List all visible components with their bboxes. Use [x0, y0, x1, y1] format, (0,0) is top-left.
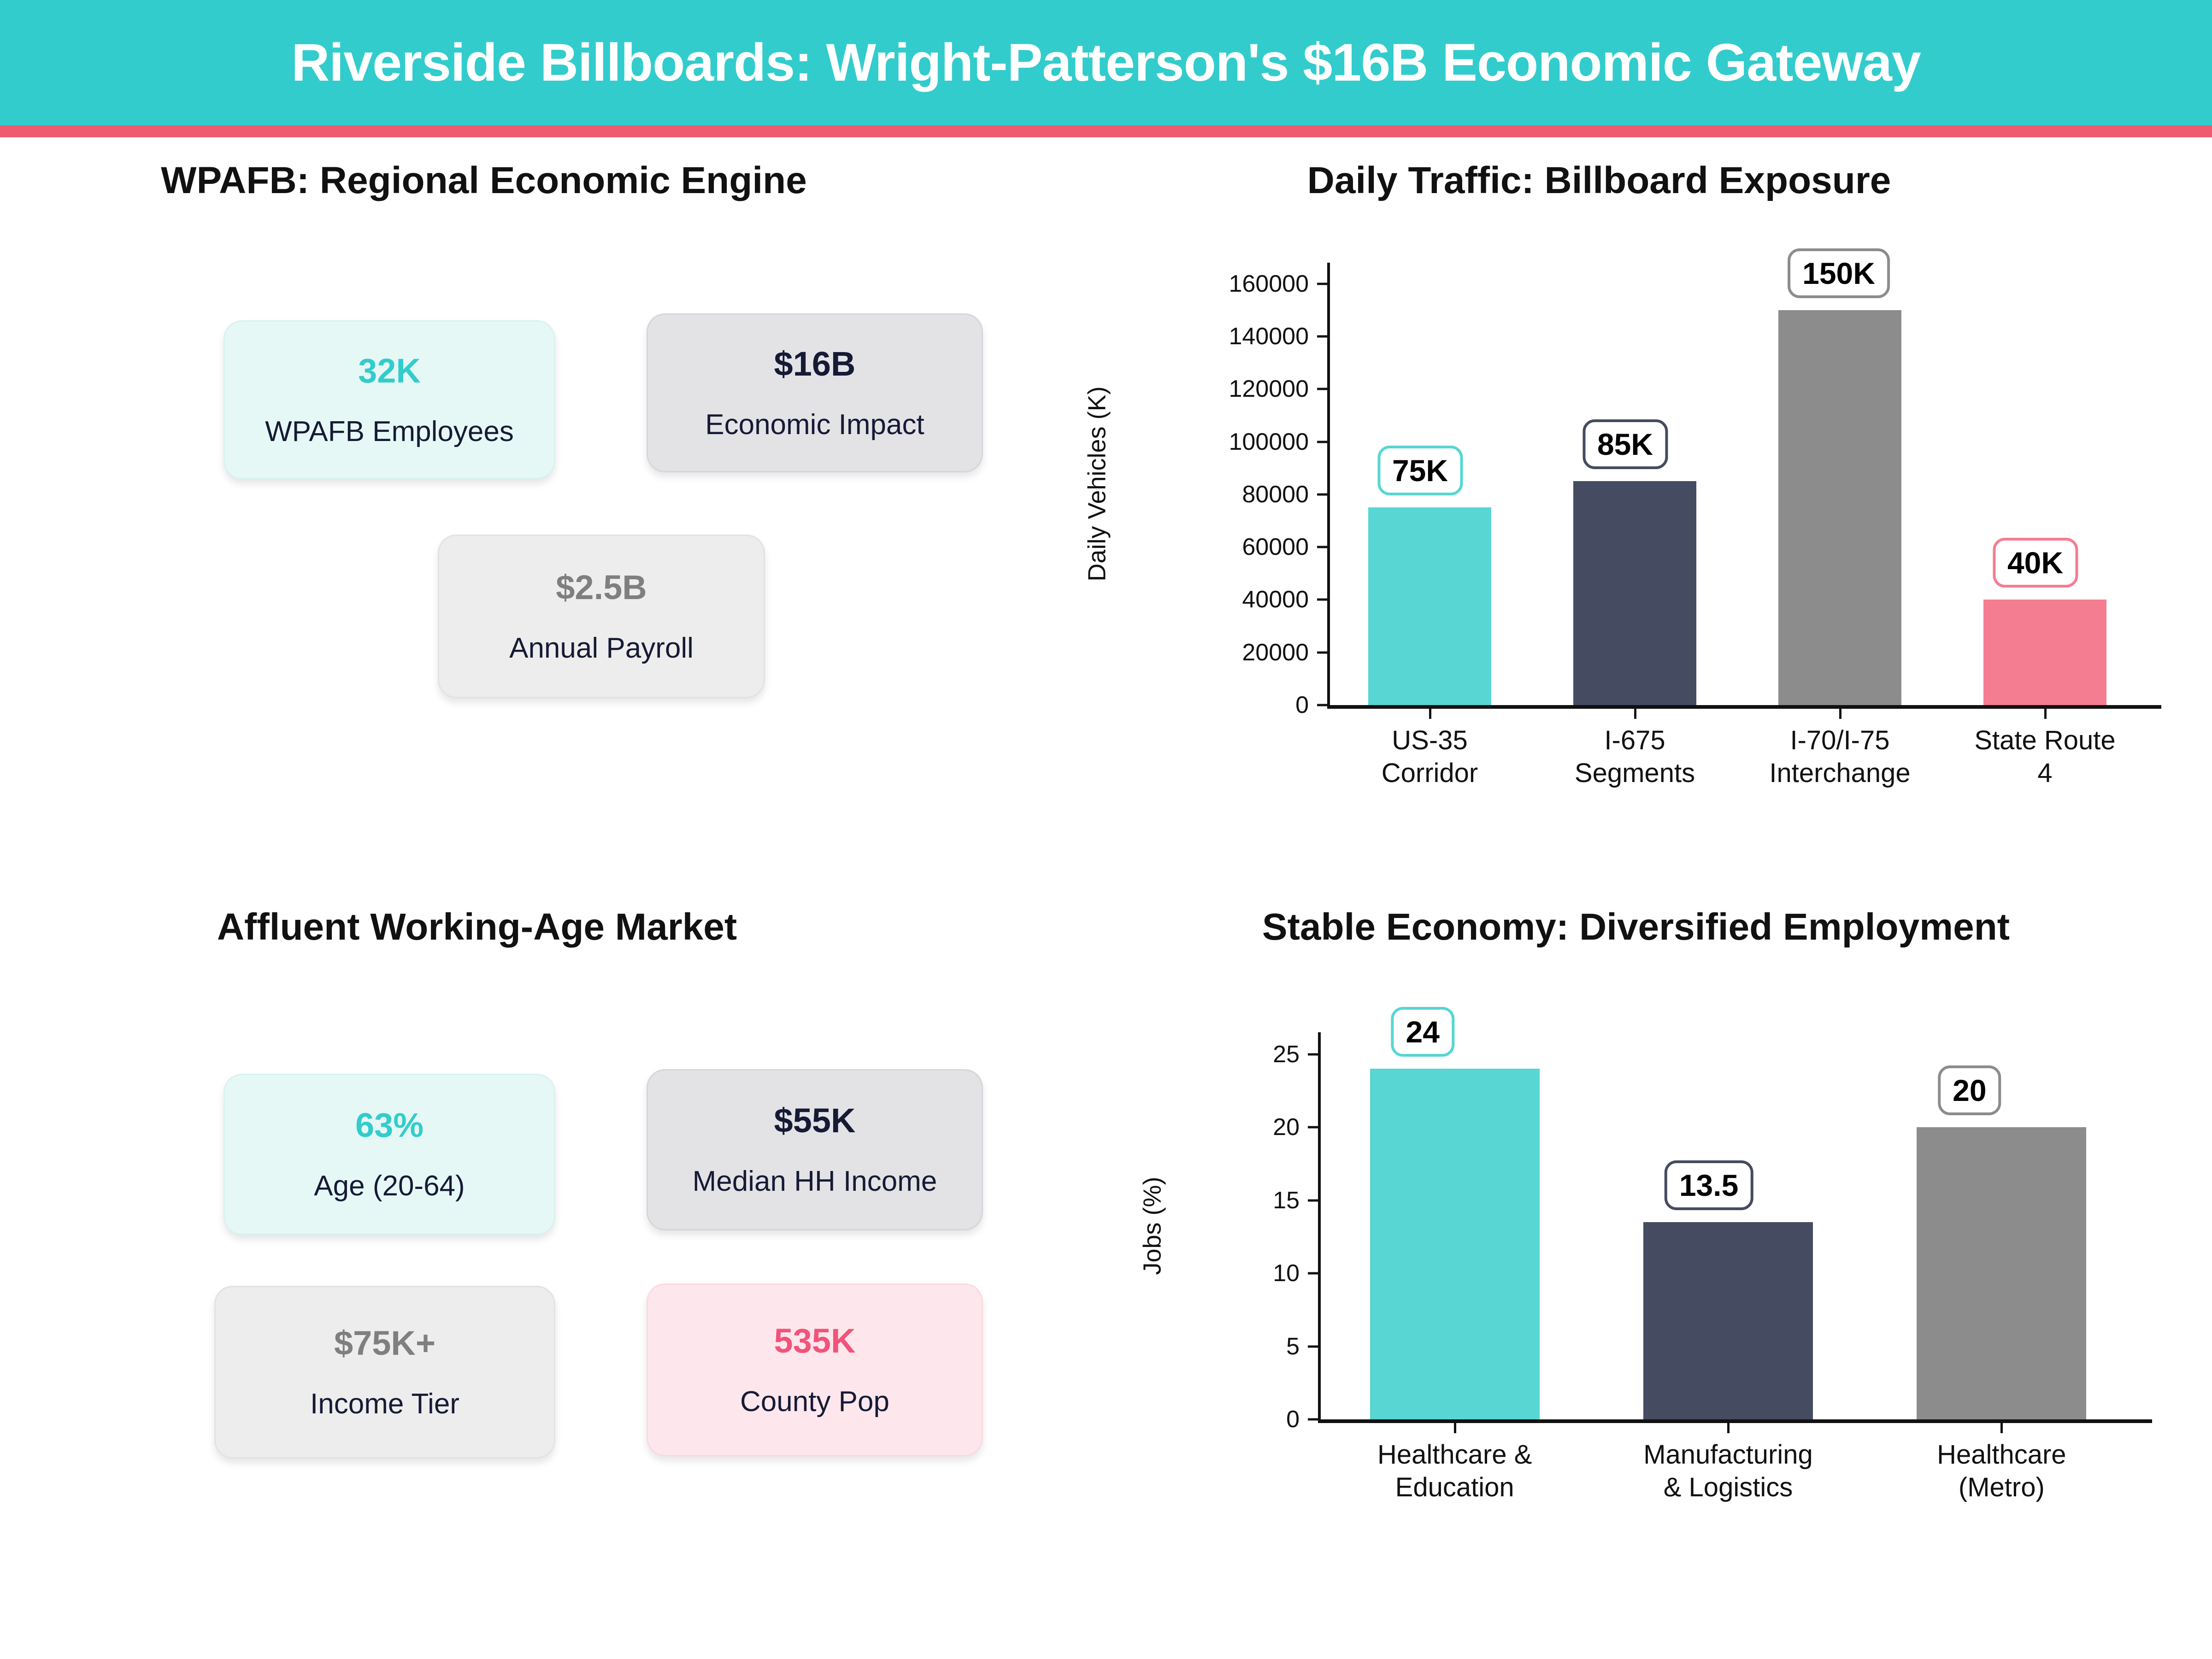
y-tick-mark — [1308, 1418, 1318, 1421]
x-tick-label: Healthcare & Education — [1318, 1439, 1591, 1504]
kpi-value: 535K — [774, 1324, 856, 1358]
kpi-value: $2.5B — [556, 571, 647, 605]
x-tick-mark — [1839, 709, 1841, 719]
y-tick-label: 0 — [1060, 691, 1309, 719]
bar — [1778, 310, 1901, 705]
y-tick-mark — [1308, 1199, 1318, 1201]
kpi-card-county-population: 535K County Pop — [647, 1283, 983, 1456]
x-tick-label: Manufacturing & Logistics — [1591, 1439, 1865, 1504]
y-tick-mark — [1317, 599, 1327, 601]
bar — [1573, 481, 1696, 705]
x-tick-label: I-675 Segments — [1532, 724, 1737, 790]
y-tick-label: 160000 — [1060, 270, 1309, 298]
section-title-market: Affluent Working-Age Market — [0, 906, 954, 949]
bar-value-badge: 85K — [1583, 419, 1668, 469]
kpi-card-income-tier: $75K+ Income Tier — [214, 1286, 555, 1459]
y-axis-label: Daily Vehicles (K) — [1082, 386, 1111, 581]
y-tick-label: 0 — [1120, 1406, 1300, 1433]
kpi-value: $75K+ — [334, 1326, 435, 1360]
kpi-card-annual-payroll: $2.5B Annual Payroll — [438, 535, 765, 698]
kpi-label: Age (20-64) — [314, 1172, 465, 1200]
x-tick-label: State Route 4 — [1942, 724, 2147, 790]
y-tick-label: 20000 — [1060, 639, 1309, 666]
bar — [1983, 600, 2106, 705]
x-axis-line — [1327, 705, 2161, 709]
x-tick-mark — [1429, 709, 1431, 719]
y-tick-mark — [1308, 1126, 1318, 1129]
header-banner: Riverside Billboards: Wright-Patterson's… — [0, 0, 2212, 125]
y-tick-mark — [1317, 493, 1327, 495]
kpi-card-median-income: $55K Median HH Income — [647, 1069, 983, 1230]
kpi-value: 32K — [358, 354, 421, 388]
x-tick-label: I-70/I-75 Interchange — [1737, 724, 1942, 790]
section-title-traffic: Daily Traffic: Billboard Exposure — [1041, 159, 2157, 202]
header-accent-bar — [0, 125, 2212, 137]
bar-value-badge: 40K — [1993, 538, 2078, 588]
y-tick-label: 140000 — [1060, 323, 1309, 350]
x-tick-label: US-35 Corridor — [1327, 724, 1532, 790]
kpi-card-working-age: 63% Age (20-64) — [224, 1074, 555, 1235]
bar-value-badge: 13.5 — [1665, 1160, 1753, 1210]
x-tick-mark — [2044, 709, 2047, 719]
y-axis-line — [1327, 263, 1330, 705]
kpi-label: Median HH Income — [693, 1167, 937, 1196]
y-tick-label: 5 — [1120, 1333, 1300, 1360]
chart-daily-traffic: 0200004000060000800001000001200001400001… — [1060, 203, 2166, 857]
x-tick-mark — [1454, 1423, 1456, 1433]
y-tick-mark — [1317, 546, 1327, 548]
kpi-value: $16B — [774, 347, 856, 381]
x-tick-mark — [1727, 1423, 1730, 1433]
y-tick-mark — [1317, 441, 1327, 443]
bar — [1368, 507, 1491, 705]
y-tick-mark — [1308, 1272, 1318, 1275]
kpi-label: Income Tier — [310, 1390, 459, 1418]
bar — [1643, 1222, 1813, 1419]
y-axis-label: Jobs (%) — [1138, 1177, 1166, 1275]
y-tick-mark — [1317, 388, 1327, 390]
chart-employment: 0510152025Jobs (%)24Healthcare & Educati… — [1120, 949, 2166, 1558]
kpi-card-economic-impact: $16B Economic Impact — [647, 313, 983, 472]
kpi-value: $55K — [774, 1104, 856, 1138]
bar — [1917, 1127, 2086, 1419]
bar — [1370, 1069, 1540, 1419]
y-tick-mark — [1308, 1053, 1318, 1055]
y-tick-mark — [1317, 651, 1327, 653]
x-tick-label: Healthcare (Metro) — [1865, 1439, 2138, 1504]
y-tick-mark — [1317, 335, 1327, 338]
y-tick-label: 40000 — [1060, 586, 1309, 613]
x-tick-mark — [2000, 1423, 2003, 1433]
bar-value-badge: 75K — [1377, 446, 1463, 495]
y-axis-line — [1318, 1032, 1321, 1419]
y-tick-label: 25 — [1120, 1041, 1300, 1068]
bar-value-badge: 150K — [1788, 248, 1890, 298]
y-tick-mark — [1317, 704, 1327, 706]
kpi-label: County Pop — [740, 1388, 889, 1416]
y-tick-mark — [1308, 1345, 1318, 1347]
y-tick-mark — [1317, 282, 1327, 285]
kpi-value: 63% — [355, 1108, 424, 1142]
kpi-label: Economic Impact — [705, 411, 924, 439]
section-title-economy: Stable Economy: Diversified Employment — [1106, 906, 2166, 949]
bar-value-badge: 24 — [1391, 1007, 1454, 1057]
y-tick-label: 20 — [1120, 1113, 1300, 1141]
bar-value-badge: 20 — [1938, 1065, 2001, 1115]
x-tick-mark — [1634, 709, 1636, 719]
section-title-wpafb: WPAFB: Regional Economic Engine — [0, 159, 968, 202]
kpi-label: Annual Payroll — [509, 634, 694, 663]
kpi-label: WPAFB Employees — [265, 418, 514, 446]
kpi-card-wpafb-employees: 32K WPAFB Employees — [224, 320, 555, 479]
x-axis-line — [1318, 1419, 2152, 1423]
page-title: Riverside Billboards: Wright-Patterson's… — [291, 32, 1921, 93]
